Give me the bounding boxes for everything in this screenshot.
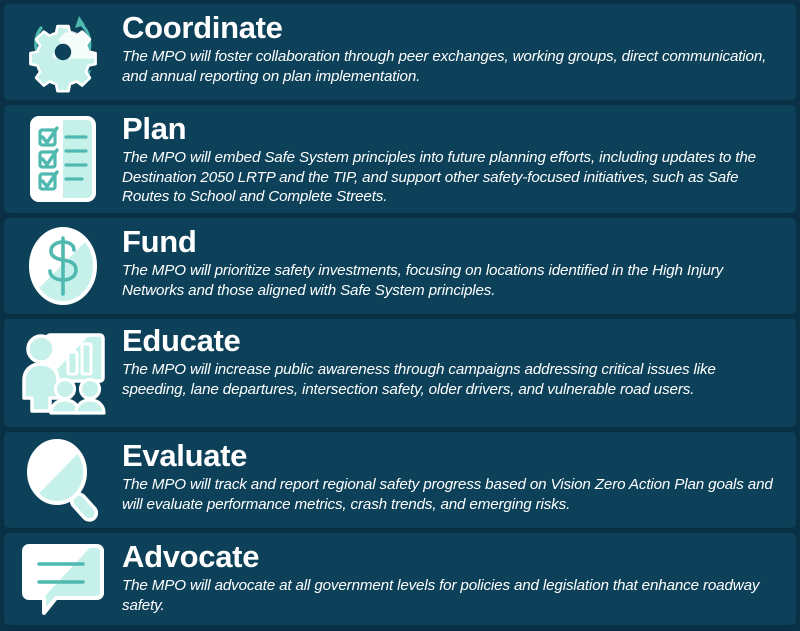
panel-content-advocate: Advocate The MPO will advocate at all go… [122, 533, 796, 615]
panel-content-educate: Educate The MPO will increase public awa… [122, 319, 796, 399]
panel-icon-educate [4, 319, 122, 427]
panel-plan: Plan The MPO will embed Safe System prin… [4, 105, 796, 213]
presenter-board-icon [17, 327, 109, 419]
panel-icon-evaluate [4, 432, 122, 528]
panel-coordinate: Coordinate The MPO will foster collabora… [4, 4, 796, 100]
panel-icon-coordinate [4, 4, 122, 100]
panel-title: Educate [122, 325, 774, 358]
panel-icon-fund [4, 218, 122, 314]
panel-description: The MPO will foster collaboration throug… [122, 47, 774, 87]
panel-icon-advocate [4, 533, 122, 625]
magnifying-glass-icon [20, 437, 106, 523]
panel-description: The MPO will advocate at all government … [122, 576, 774, 616]
panel-description: The MPO will prioritize safety investmen… [122, 261, 774, 301]
panel-content-plan: Plan The MPO will embed Safe System prin… [122, 105, 796, 207]
panel-icon-plan [4, 105, 122, 213]
gear-refresh-icon [21, 10, 105, 94]
panel-title: Plan [122, 113, 774, 146]
dollar-circle-icon [21, 224, 105, 308]
panel-content-fund: Fund The MPO will prioritize safety inve… [122, 218, 796, 300]
panel-title: Advocate [122, 541, 774, 574]
panel-title: Coordinate [122, 12, 774, 45]
panel-description: The MPO will embed Safe System principle… [122, 148, 774, 207]
panel-description: The MPO will increase public awareness t… [122, 360, 774, 400]
panel-description: The MPO will track and report regional s… [122, 475, 774, 515]
panel-title: Evaluate [122, 440, 774, 473]
panel-content-evaluate: Evaluate The MPO will track and report r… [122, 432, 796, 514]
panel-advocate: Advocate The MPO will advocate at all go… [4, 533, 796, 625]
panel-educate: Educate The MPO will increase public awa… [4, 319, 796, 427]
panel-evaluate: Evaluate The MPO will track and report r… [4, 432, 796, 528]
panel-title: Fund [122, 226, 774, 259]
strategy-panel-list: Coordinate The MPO will foster collabora… [0, 0, 800, 631]
panel-content-coordinate: Coordinate The MPO will foster collabora… [122, 4, 796, 86]
speech-bubble-icon [19, 540, 107, 618]
panel-fund: Fund The MPO will prioritize safety inve… [4, 218, 796, 314]
checklist-clipboard-icon [24, 113, 102, 205]
